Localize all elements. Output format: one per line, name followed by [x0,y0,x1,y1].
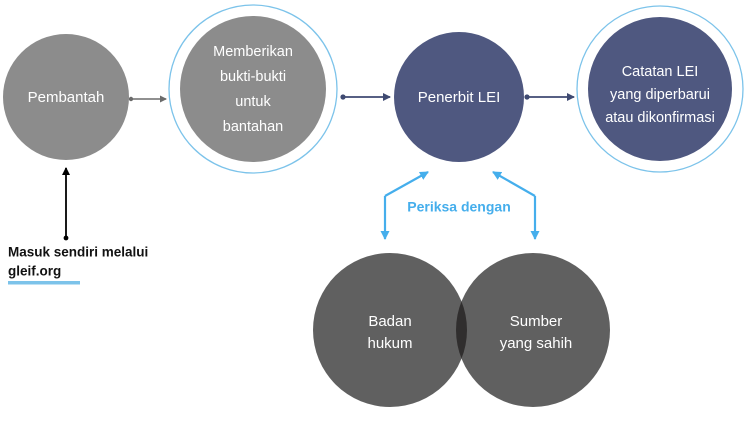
arrow-check-right-up [493,172,535,196]
node-penerbit-lei[interactable]: Penerbit LEI [394,32,524,162]
node-penerbit-lei-label: Penerbit LEI [418,89,501,106]
node-catatan-lei-label-line3: atau dikonfirmasi [605,110,715,126]
arrow-check-left-up [385,172,428,196]
entry-caption-line1: Masuk sendiri melalui [8,245,148,260]
node-catatan-lei-label-line2: yang diperbarui [610,87,710,103]
node-pembantah-label: Pembantah [28,89,105,106]
connector-label-periksa: Periksa dengan [407,199,511,215]
node-catatan-lei-label-line1: Catatan LEI [622,64,699,80]
entry-caption-underline [8,281,80,285]
node-pembantah[interactable]: Pembantah [3,34,129,160]
venn-label-badan-hukum-line1: Badan [368,313,411,330]
node-memberikan-bukti-circle [180,16,326,162]
node-memberikan-bukti-label-line2: bukti-bukti [220,69,286,85]
venn-label-badan-hukum-line2: hukum [367,335,412,352]
venn-circle-sumber-sahih[interactable] [456,253,610,407]
diagram-svg: Badan hukum Sumber yang sahih Pembantah … [0,0,750,425]
diagram-canvas: Badan hukum Sumber yang sahih Pembantah … [0,0,750,425]
venn-label-sumber-sahih-line2: yang sahih [500,335,573,352]
node-memberikan-bukti-label-line3: untuk [235,94,271,110]
node-memberikan-bukti-label-line4: bantahan [223,119,283,135]
node-memberikan-bukti-label-line1: Memberikan [213,44,293,60]
venn-diagram: Badan hukum Sumber yang sahih [313,253,610,407]
entry-caption: Masuk sendiri melalui gleif.org [8,245,148,285]
venn-label-sumber-sahih-line1: Sumber [510,313,563,330]
venn-circle-badan-hukum[interactable] [313,253,467,407]
node-catatan-lei[interactable]: Catatan LEI yang diperbarui atau dikonfi… [577,6,743,172]
node-memberikan-bukti[interactable]: Memberikan bukti-bukti untuk bantahan [169,5,337,173]
entry-caption-link[interactable]: gleif.org [8,264,61,279]
